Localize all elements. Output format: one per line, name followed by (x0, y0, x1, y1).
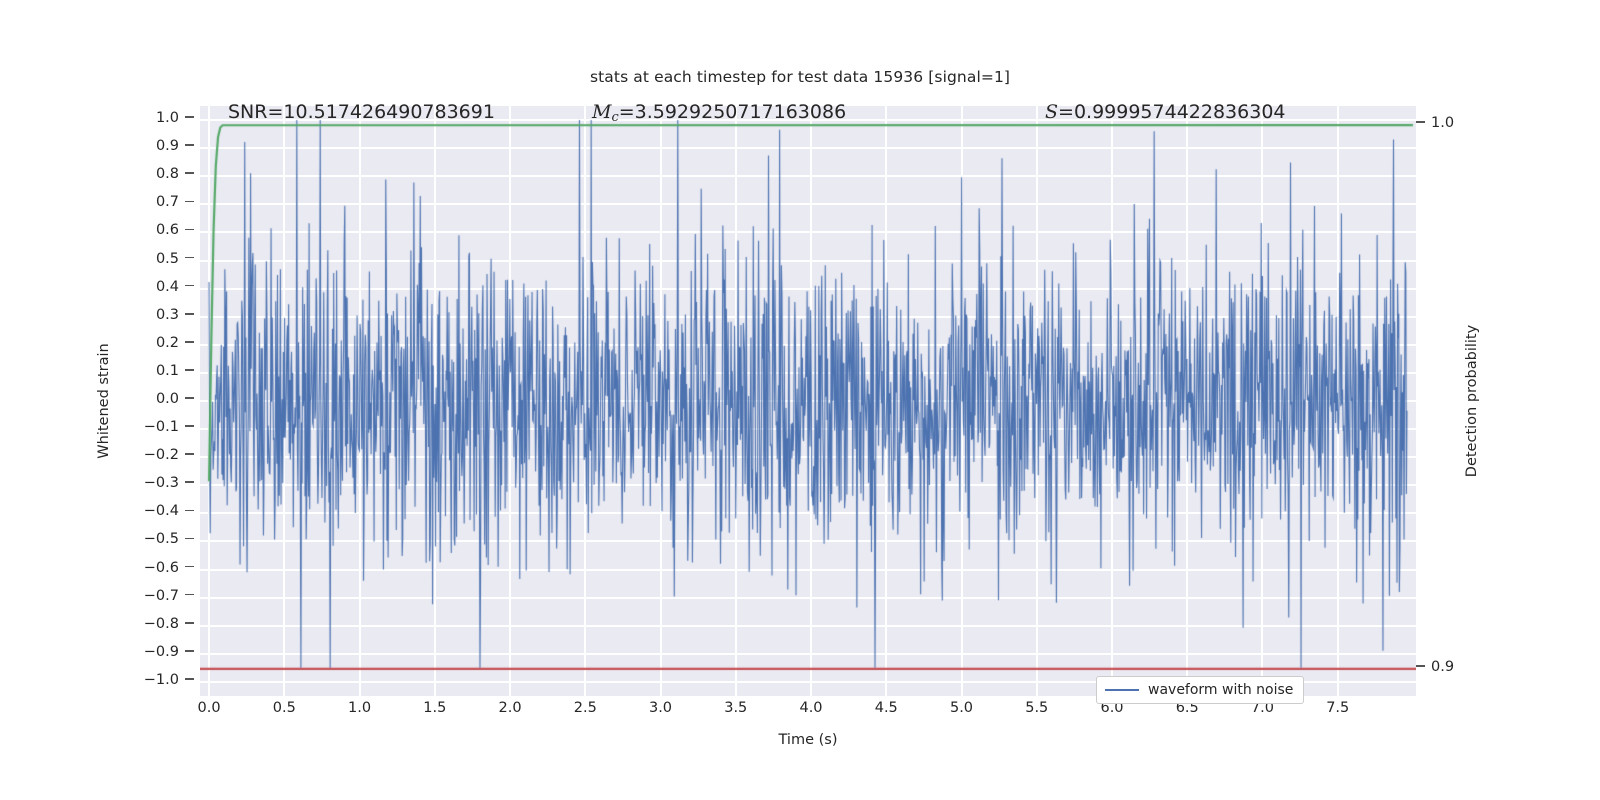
y-tick-left: 0.4 (156, 279, 194, 295)
y-tick-left-mark (185, 257, 194, 259)
y-tick-left-label: −0.2 (144, 447, 179, 463)
x-tick-label: 5.0 (950, 700, 973, 716)
y-tick-left-mark (185, 285, 194, 287)
annotation-symbol: M (592, 101, 611, 123)
page-title: stats at each timestep for test data 159… (0, 68, 1600, 86)
y-tick-left: −0.3 (144, 475, 194, 491)
y-tick-left: 0.3 (156, 307, 194, 323)
annotation-value: =0.9999574422836304 (1058, 101, 1285, 123)
y-tick-left-label: 0.6 (156, 222, 179, 238)
x-tick-label: 1.0 (348, 700, 371, 716)
y-tick-left-label: 0.5 (156, 251, 179, 267)
x-tick-label: 4.0 (799, 700, 822, 716)
y-tick-left-mark (185, 566, 194, 568)
y-tick-left-label: 0.3 (156, 307, 179, 323)
y-tick-left-mark (185, 453, 194, 455)
y-tick-left-label: −0.5 (144, 531, 179, 547)
x-tick-label: 3.0 (649, 700, 672, 716)
y-tick-left-mark (185, 622, 194, 624)
y-tick-left-mark (185, 510, 194, 512)
x-tick-label: 3.5 (724, 700, 747, 716)
x-tick-label: 0.0 (197, 700, 220, 716)
y-tick-left: 0.5 (156, 251, 194, 267)
y-axis-left-label: Whitened strain (96, 343, 112, 458)
legend-swatch-waveform (1105, 689, 1139, 691)
y-tick-left-mark (185, 313, 194, 315)
y-tick-left-mark (185, 678, 194, 680)
x-tick-label: 2.0 (498, 700, 521, 716)
y-tick-right-mark (1416, 665, 1425, 667)
annotation-value: =3.5929250717163086 (619, 101, 846, 123)
y-tick-left-label: 0.1 (156, 363, 179, 379)
y-tick-left-mark (185, 201, 194, 203)
y-tick-left-mark (185, 144, 194, 146)
y-tick-left: −0.6 (144, 560, 194, 576)
annotation-mchirp: Mc=3.5929250717163086 (592, 101, 846, 125)
y-tick-left: −0.5 (144, 531, 194, 547)
y-tick-left-label: 0.0 (156, 391, 179, 407)
y-tick-left-label: 0.2 (156, 335, 179, 351)
y-tick-left: −0.8 (144, 616, 194, 632)
annotation-score: S=0.9999574422836304 (1045, 101, 1286, 123)
y-tick-left: 0.7 (156, 194, 194, 210)
y-tick-right: 1.0 (1416, 115, 1454, 131)
x-tick-label: 0.5 (273, 700, 296, 716)
x-tick-label: 2.5 (574, 700, 597, 716)
y-tick-left: −0.2 (144, 447, 194, 463)
y-tick-left: 1.0 (156, 110, 194, 126)
legend: waveform with noise (1096, 676, 1304, 704)
x-tick-label: 7.5 (1326, 700, 1349, 716)
y-tick-left-mark (185, 538, 194, 540)
annotation-snr: SNR=10.517426490783691 (228, 101, 495, 123)
y-tick-left: 0.6 (156, 222, 194, 238)
y-tick-right-label: 1.0 (1431, 115, 1454, 131)
y-tick-left-mark (185, 341, 194, 343)
x-tick-label: 4.5 (875, 700, 898, 716)
y-tick-left-label: 0.4 (156, 279, 179, 295)
y-tick-left: 0.2 (156, 335, 194, 351)
y-tick-right: 0.9 (1416, 659, 1454, 675)
y-tick-left: 0.8 (156, 166, 194, 182)
y-tick-left-label: −0.8 (144, 616, 179, 632)
y-tick-left: 0.1 (156, 363, 194, 379)
y-tick-left-label: 0.7 (156, 194, 179, 210)
annotation-symbol: SNR (228, 101, 267, 123)
x-tick-label: 1.5 (423, 700, 446, 716)
y-tick-left-mark (185, 397, 194, 399)
y-axis-right-label: Detection probability (1464, 325, 1480, 477)
x-tick-label: 5.5 (1025, 700, 1048, 716)
y-tick-left: 0.0 (156, 391, 194, 407)
legend-label-waveform: waveform with noise (1148, 682, 1293, 698)
annotation-value: =10.517426490783691 (267, 101, 494, 123)
y-tick-left-mark (185, 425, 194, 427)
y-tick-left-label: 1.0 (156, 110, 179, 126)
y-tick-left-label: −0.4 (144, 503, 179, 519)
y-tick-left-label: −0.6 (144, 560, 179, 576)
y-tick-left: −1.0 (144, 672, 194, 688)
x-axis-label: Time (s) (779, 732, 838, 748)
plot-area (200, 106, 1416, 696)
y-tick-left: 0.9 (156, 138, 194, 154)
y-tick-left-mark (185, 116, 194, 118)
y-tick-right-label: 0.9 (1431, 659, 1454, 675)
y-tick-left-mark (185, 481, 194, 483)
detection-probability-series (200, 106, 1416, 696)
matplotlib-figure: stats at each timestep for test data 159… (0, 0, 1600, 800)
y-tick-left: −0.7 (144, 588, 194, 604)
y-tick-left-mark (185, 650, 194, 652)
y-tick-left: −0.1 (144, 419, 194, 435)
y-tick-left-mark (185, 594, 194, 596)
y-tick-left-label: −0.7 (144, 588, 179, 604)
y-tick-right-mark (1416, 121, 1425, 123)
y-tick-left-label: −0.1 (144, 419, 179, 435)
y-tick-left-label: −0.3 (144, 475, 179, 491)
y-tick-left-label: 0.9 (156, 138, 179, 154)
y-tick-left-label: −0.9 (144, 644, 179, 660)
y-tick-left-mark (185, 229, 194, 231)
y-tick-left-mark (185, 369, 194, 371)
annotation-symbol: S (1045, 101, 1058, 123)
y-tick-left-label: 0.8 (156, 166, 179, 182)
y-tick-left-label: −1.0 (144, 672, 179, 688)
y-tick-left: −0.4 (144, 503, 194, 519)
y-tick-left-mark (185, 172, 194, 174)
y-tick-left: −0.9 (144, 644, 194, 660)
annotation-subscript: c (611, 110, 618, 125)
